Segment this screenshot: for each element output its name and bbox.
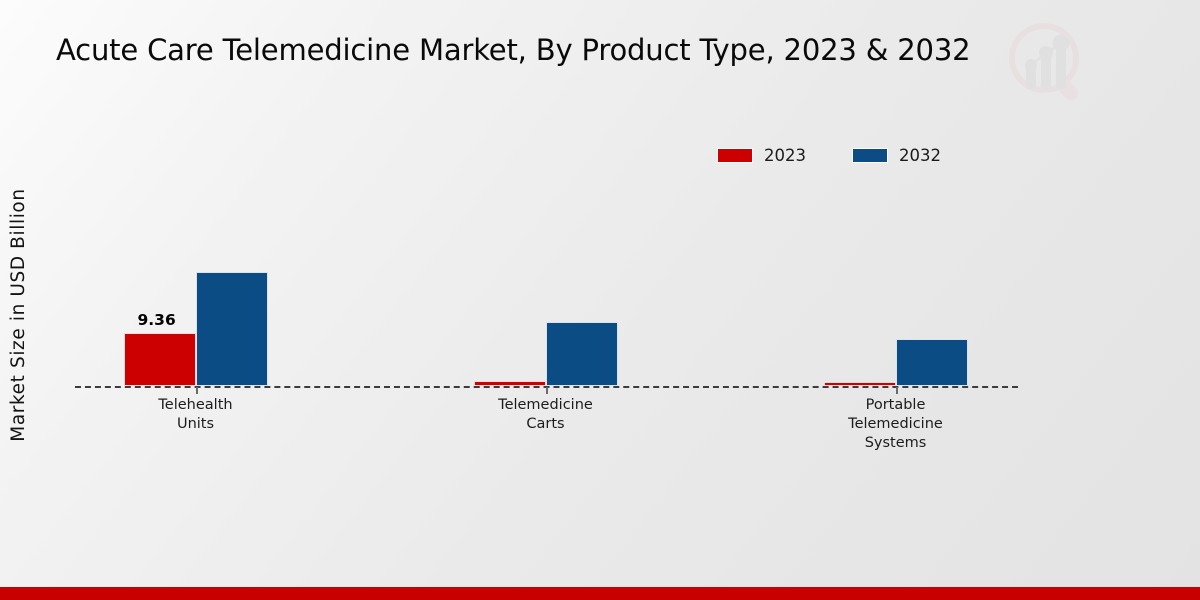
x-axis-tick-1 [546,387,548,394]
x-axis-label-0: TelehealthUnits [101,396,291,434]
bar-2032-0[interactable] [196,272,268,386]
bar-2032-2[interactable] [896,339,968,386]
bar-value-label-2023-0: 9.36 [138,311,176,329]
bar-2023-0[interactable] [124,333,196,386]
bar-2023-2[interactable] [824,382,896,386]
plot-area: 9.36TelehealthUnitsTelemedicineCartsPort… [0,0,1200,600]
x-axis-label-2: PortableTelemedicineSystems [801,396,991,453]
chart-canvas: Acute Care Telemedicine Market, By Produ… [0,0,1200,600]
x-axis-tick-2 [896,387,898,394]
footer-accent-bar [0,587,1200,600]
x-axis-tick-0 [196,387,198,394]
x-axis-label-1: TelemedicineCarts [451,396,641,434]
bar-2032-1[interactable] [546,322,618,386]
bar-2023-1[interactable] [474,381,546,386]
